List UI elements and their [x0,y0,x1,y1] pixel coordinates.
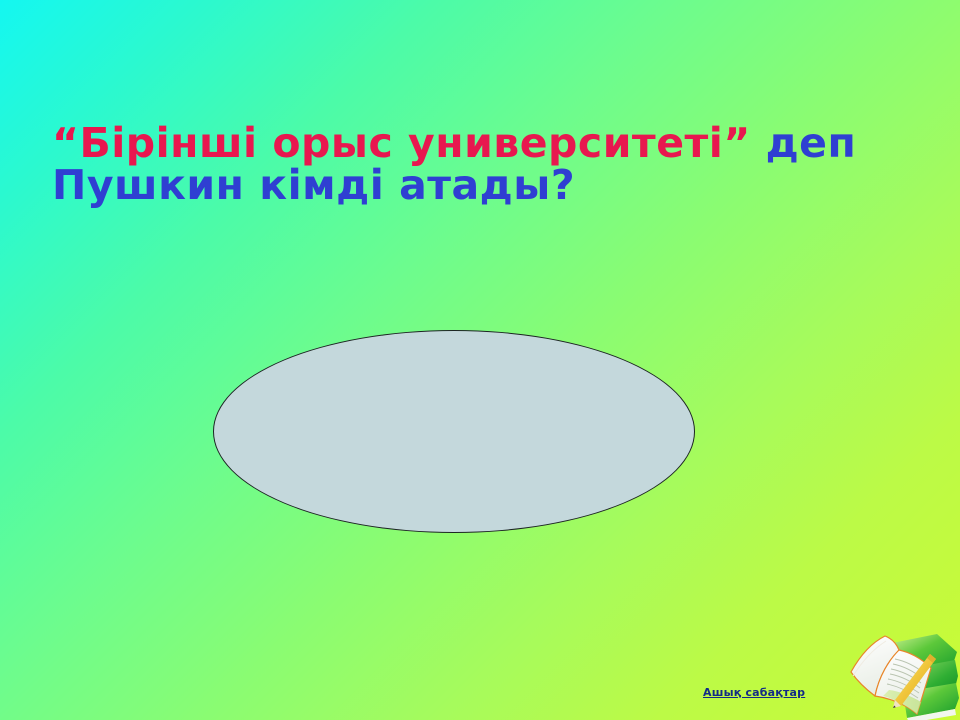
question-line-1-quoted-part: “Бірінші орыс университеті” [52,119,751,167]
answer-ellipse-text [214,331,694,532]
question-text: “Бірінші орыс университеті” деп Пушкин к… [52,122,852,206]
slide-canvas: “Бірінші орыс университеті” деп Пушкин к… [0,0,960,720]
question-line-1-trailing-word: деп [766,119,857,167]
ashyk-sabaktar-link[interactable]: Ашық сабақтар [703,686,805,699]
question-line-2: Пушкин кімді атады? [52,164,852,206]
answer-ellipse[interactable] [213,330,695,533]
question-line-1: “Бірінші орыс университеті” деп [52,122,852,164]
open-book-icon [845,628,960,720]
